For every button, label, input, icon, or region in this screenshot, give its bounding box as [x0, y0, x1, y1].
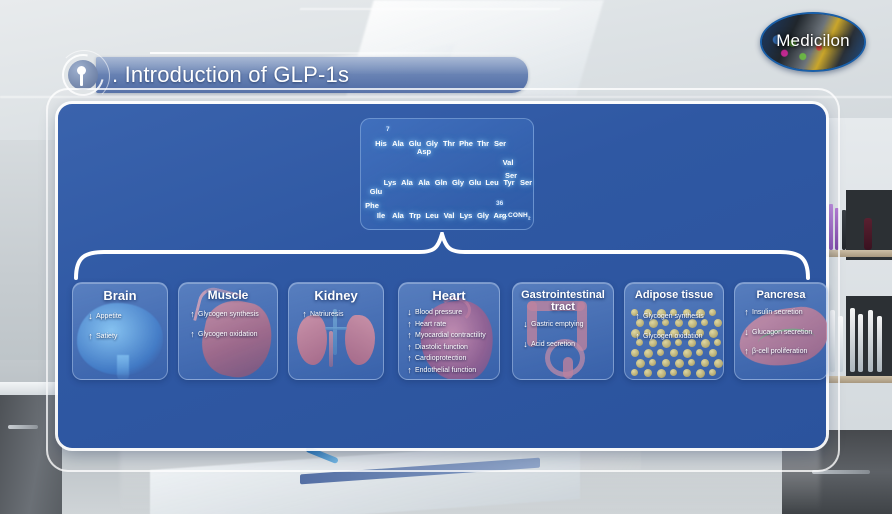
- amino-acid-residue: Glu: [467, 177, 483, 189]
- arrow-down-icon: ↓: [522, 339, 529, 351]
- effect-label: Glycogen synthesis: [198, 311, 259, 318]
- terminus-text: CONH: [508, 212, 528, 219]
- effect-label: Glycogen oxidation: [643, 333, 703, 340]
- fat-cell: [631, 349, 639, 357]
- effect-label: β-cell proliferation: [752, 348, 807, 355]
- amino-acid-residue: Lys: [382, 177, 398, 189]
- scope-disc: [68, 60, 98, 90]
- effect-item: ↑Glycogen oxidation: [634, 331, 719, 343]
- card-effect-list: ↑Glycogen synthesis↑Glycogen oxidation: [634, 311, 719, 350]
- arrow-down-icon: ↓: [87, 311, 94, 323]
- effect-label: Insulin secretion: [752, 309, 803, 316]
- card-title: Heart: [399, 289, 499, 302]
- effect-label: Appetite: [96, 313, 122, 320]
- effect-item: ↑Myocardial contractility: [406, 330, 495, 342]
- effect-label: Endothelial function: [415, 367, 476, 374]
- arrow-up-icon: ↑: [189, 309, 196, 321]
- scope-stem: [80, 74, 83, 86]
- arrow-up-icon: ↑: [406, 319, 413, 331]
- fat-cell: [675, 359, 684, 368]
- fat-cell: [709, 349, 717, 357]
- fat-cell: [683, 369, 691, 377]
- effect-label: Blood pressure: [415, 309, 462, 316]
- fat-cell: [662, 359, 670, 367]
- rectum: [563, 357, 573, 379]
- amino-acid-residue: Ser: [518, 177, 534, 189]
- amino-acid-residue: Glu: [368, 186, 384, 198]
- amino-acid-residue: Thr: [475, 138, 491, 150]
- effect-item: ↑Glycogen oxidation: [189, 329, 273, 341]
- card-effect-list: ↑Glycogen synthesis↑Glycogen oxidation: [189, 309, 273, 348]
- effect-item: ↑Glycogen synthesis: [634, 311, 719, 323]
- fat-cell: [701, 359, 709, 367]
- fat-cell: [709, 369, 716, 376]
- effect-label: Satiety: [96, 333, 117, 340]
- card-effect-list: ↓Gastric emptying↓Acid secretion: [522, 319, 609, 358]
- arrow-up-icon: ↑: [743, 307, 750, 319]
- amino-acid-residue: Gly: [450, 177, 466, 189]
- page-title: . Introduction of GLP-1s: [112, 60, 532, 90]
- effect-item: ↑Insulin secretion: [743, 307, 823, 319]
- card-effect-list: ↑Natriuresis: [301, 309, 379, 329]
- amino-acid-residue: Ala: [399, 177, 415, 189]
- arrow-up-icon: ↑: [406, 342, 413, 354]
- organ-card-kidney[interactable]: Kidney↑Natriuresis: [288, 282, 384, 380]
- fat-cell: [644, 349, 653, 358]
- fat-cell: [670, 369, 677, 376]
- organ-card-muscle[interactable]: Muscle↑Glycogen synthesis↑Glycogen oxida…: [178, 282, 278, 380]
- card-effect-list: ↓Blood pressure↑Heart rate↑Myocardial co…: [406, 307, 495, 376]
- fat-cell: [657, 369, 666, 378]
- effect-label: Glycogen synthesis: [643, 313, 704, 320]
- effect-label: Glycogen oxidation: [198, 331, 258, 338]
- effect-item: ↑Cardioprotection: [406, 353, 495, 365]
- organ-card-pancresa[interactable]: Pancresa↑Insulin secretion↓Glucagon secr…: [734, 282, 828, 380]
- residue-number-end: 36: [496, 200, 503, 207]
- reagent-bottle-maroon: [864, 218, 872, 250]
- effect-item: ↓Gastric emptying: [522, 319, 609, 331]
- arrow-up-icon: ↑: [634, 311, 641, 323]
- arrow-down-icon: ↓: [406, 307, 413, 319]
- organ-card-brain[interactable]: Brain↓Appetite↑Satiety: [72, 282, 168, 380]
- effect-item: ↑Natriuresis: [301, 309, 379, 321]
- ureter: [329, 331, 333, 367]
- fat-cell: [670, 349, 678, 357]
- effect-item: ↓Acid secretion: [522, 339, 609, 351]
- amino-acid-residue: Lys: [458, 210, 474, 222]
- effect-label: Acid secretion: [531, 341, 575, 348]
- amino-acid-residue: Leu: [424, 210, 440, 222]
- effect-item: ↑Glycogen synthesis: [189, 309, 273, 321]
- amino-acid-residue: Ala: [390, 210, 406, 222]
- card-title: Brain: [73, 289, 167, 302]
- amino-acid-residue: Val: [441, 210, 457, 222]
- amino-acid-residue: His: [373, 138, 389, 150]
- amino-acid-residue: Gln: [433, 177, 449, 189]
- arrow-up-icon: ↑: [406, 365, 413, 377]
- effect-label: Natriuresis: [310, 311, 343, 318]
- card-effect-list: ↑Insulin secretion↓Glucagon secretion↑β-…: [743, 307, 823, 366]
- terminus-subscript: 2: [528, 215, 531, 220]
- logo-text: Medicilon: [762, 31, 864, 51]
- amino-acid-residue: Asp: [416, 146, 432, 158]
- amino-acid-residue: Gly: [475, 210, 491, 222]
- amino-acid-residue: Tyr: [501, 177, 517, 189]
- effect-item: ↑Endothelial function: [406, 365, 495, 377]
- effect-item: ↓Blood pressure: [406, 307, 495, 319]
- fat-cell: [636, 359, 645, 368]
- arrow-up-icon: ↑: [743, 346, 750, 358]
- fat-cell: [714, 359, 723, 368]
- effect-item: ↓Glucagon secretion: [743, 327, 823, 339]
- slide-root: . Introduction of GLP-1s Medicilon HisAl…: [0, 0, 892, 514]
- effect-item: ↑Heart rate: [406, 319, 495, 331]
- fat-cell: [631, 369, 638, 376]
- amino-acid-residue: Leu: [484, 177, 500, 189]
- arrow-down-icon: ↓: [522, 319, 529, 331]
- fat-cell: [696, 349, 703, 356]
- arrow-up-icon: ↑: [189, 329, 196, 341]
- effect-label: Glucagon secretion: [752, 329, 812, 336]
- card-title: Adipose tissue: [625, 289, 723, 302]
- arrow-up-icon: ↑: [634, 331, 641, 343]
- effect-item: ↑β-cell proliferation: [743, 346, 823, 358]
- amino-acid-residue: Thr: [441, 138, 457, 150]
- amino-acid-residue: Ala: [390, 138, 406, 150]
- amino-acid-residue: Ala: [416, 177, 432, 189]
- effect-label: Myocardial contractility: [415, 332, 486, 339]
- amino-acid-residue: Ile: [373, 210, 389, 222]
- amino-acid-residue: Trp: [407, 210, 423, 222]
- bracket-connector: [74, 232, 810, 280]
- arrow-down-icon: ↓: [743, 327, 750, 339]
- effect-label: Diastolic function: [415, 344, 468, 351]
- amino-acid-residue: Val: [500, 157, 516, 169]
- arrow-up-icon: ↑: [301, 309, 308, 321]
- fat-cell: [688, 359, 695, 366]
- effect-item: ↑Diastolic function: [406, 342, 495, 354]
- fat-cell: [696, 369, 705, 378]
- effect-item: ↓Appetite: [87, 311, 163, 323]
- card-title: Kidney: [289, 289, 383, 302]
- arrow-up-icon: ↑: [406, 353, 413, 365]
- left-cabinet-handle: [8, 425, 38, 429]
- arrow-up-icon: ↑: [406, 330, 413, 342]
- reagent-bottle-dark: [842, 210, 846, 250]
- effect-item: ↑Satiety: [87, 331, 163, 343]
- arrow-up-icon: ↑: [87, 331, 94, 343]
- effect-label: Heart rate: [415, 321, 446, 328]
- card-effect-list: ↓Appetite↑Satiety: [87, 311, 163, 350]
- organ-card-adipose-tissue[interactable]: Adipose tissue↑Glycogen synthesis↑Glycog…: [624, 282, 724, 380]
- card-title: Muscle: [179, 289, 277, 302]
- fat-cell: [657, 349, 664, 356]
- organ-card-gastrointestinal-tract[interactable]: Gastrointestinal tract↓Gastric emptying↓…: [512, 282, 614, 380]
- fat-cell: [683, 349, 692, 358]
- effect-label: Cardioprotection: [415, 355, 466, 362]
- amino-acid-residue: Ser: [492, 138, 508, 150]
- header-accent-line: [150, 52, 530, 54]
- amino-acid-residue: Phe: [458, 138, 474, 150]
- residue-number-start: 7: [386, 126, 390, 133]
- card-title: Pancresa: [735, 289, 827, 302]
- terminus-connector: [494, 216, 508, 217]
- c-terminus-label: CONH2: [508, 212, 531, 220]
- fat-cell: [649, 359, 656, 366]
- card-title: Gastrointestinal tract: [513, 289, 613, 313]
- effect-label: Gastric emptying: [531, 321, 584, 328]
- fat-cell: [644, 369, 652, 377]
- medicilon-logo[interactable]: Medicilon: [760, 12, 866, 72]
- organ-card-heart[interactable]: Heart↓Blood pressure↑Heart rate↑Myocardi…: [398, 282, 500, 380]
- ceiling-seam-angled: [300, 8, 561, 10]
